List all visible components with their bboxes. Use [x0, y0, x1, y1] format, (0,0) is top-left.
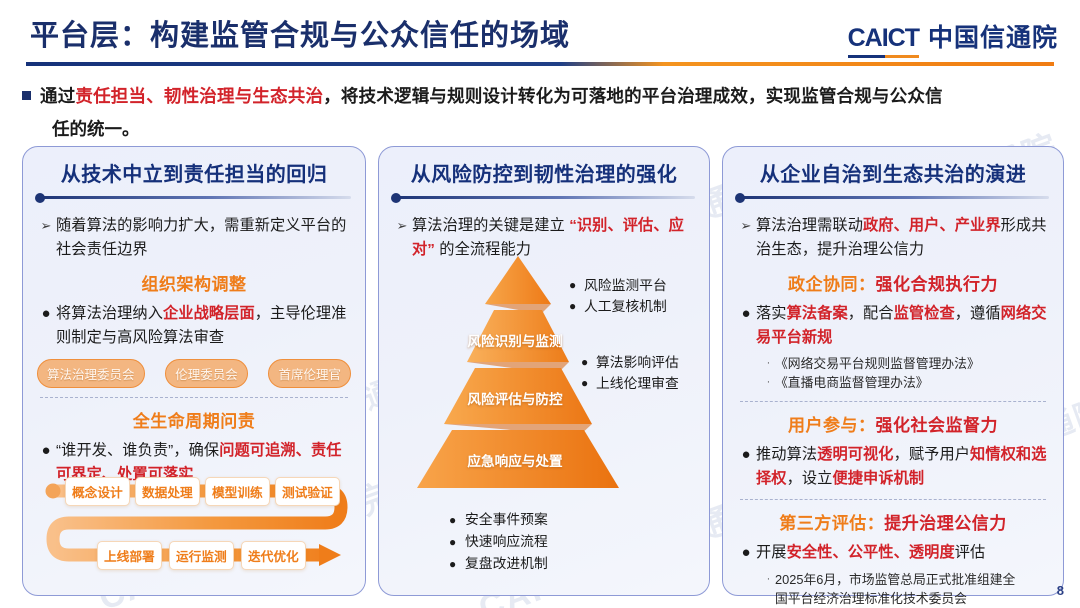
caict-logo: CAICT 中国信通院	[848, 18, 1058, 54]
logo-caict-text: CAICT	[848, 24, 919, 52]
card3-bullet-2-text: 落实算法备案，配合监管检查，遵循网络交易平台新规	[756, 302, 1050, 349]
chip-item[interactable]: 算法治理委员会	[37, 359, 145, 388]
dot-bullet-icon: ●	[569, 296, 584, 317]
card3-sublist-1: ·《网络交易平台规则监督管理办法》 ·《直播电商监督管理办法》	[762, 354, 1050, 392]
card-responsibility: 从技术中立到责任担当的回归 ➢ 随着算法的影响力扩大，需重新定义平台的社会责任边…	[22, 146, 366, 596]
card3-sh3-red: 提升治理公信力	[884, 514, 1007, 533]
bottom-note-text: 快速响应流程	[465, 531, 548, 553]
card1-bullet-2: ● 将算法治理纳入企业战略层面，主导伦理准则制定与高风险算法审查	[36, 302, 352, 349]
side-note-text: 上线伦理审查	[596, 373, 679, 394]
card1-lifecycle-flow: 概念设计 数据处理 模型训练 测试验证 上线部署 运行监测 迭代优化	[35, 469, 353, 581]
logo-underline-bar	[848, 55, 919, 58]
card3-b2-b: ，配合	[848, 305, 894, 322]
dot-bullet-icon: ●	[736, 541, 756, 565]
card-ecosystem: 从企业自治到生态共治的演进 ➢ 算法治理需联动政府、用户、产业界形成共治生态，提…	[722, 146, 1064, 596]
card2-b1-red: “识别、评估、	[569, 217, 668, 234]
logo-mark: CAICT	[848, 24, 919, 53]
card1-title-divider	[37, 196, 351, 199]
slide-header: 平台层：构建监管合规与公众信任的场域 CAICT 中国信通院	[0, 0, 1080, 70]
card1-chips: 算法治理委员会 伦理委员会 首席伦理官	[36, 359, 352, 388]
lead-text-line2: 任的统一。	[52, 113, 1062, 146]
card1-subhead-org: 组织架构调整	[36, 270, 352, 295]
side-note-item: ●人工复核机制	[569, 296, 667, 317]
card3-b4-a: 开展	[756, 544, 787, 561]
bottom-note-item: ●快速响应流程	[449, 531, 548, 553]
flow-box: 概念设计	[65, 477, 130, 506]
sub-item: 国平台经济治理标准化技术委员会	[762, 589, 1050, 608]
card1-body: ➢ 随着算法的影响力扩大，需重新定义平台的社会责任边界 组织架构调整 ● 将算法…	[23, 199, 365, 486]
slide: CAICT 中国信通院 CAICT 中国信通院 CAICT 中国信通院 CAIC…	[0, 0, 1080, 608]
card3-sh3-org: 第三方评估：	[779, 514, 884, 533]
header-divider	[26, 62, 1054, 66]
card3-title-divider	[737, 196, 1049, 199]
card3-b1-b: 形	[1001, 217, 1016, 234]
card1-b3-red1: 问题可追溯、	[219, 442, 311, 459]
side-note-text: 算法影响评估	[596, 352, 679, 373]
pyramid-label-2: 风险识别与监测	[384, 330, 646, 350]
card3-b1-a: 算法治理需联动	[756, 217, 863, 234]
card1-b1-a: 随着算法的影响力扩大，需重新定义平	[56, 217, 316, 234]
dot-bullet-icon: ●	[36, 302, 56, 349]
card1-subhead-lifecycle: 全生命周期问责	[36, 407, 352, 432]
chip-item[interactable]: 首席伦理官	[268, 359, 351, 388]
card3-bullet-1: ➢ 算法治理需联动政府、用户、产业界形成共治生态，提升治理公信力	[736, 214, 1050, 261]
pyramid-side-note-mid: ●算法影响评估 ●上线伦理审查	[581, 352, 679, 394]
card3-subhead-1: 政企协同：强化合规执行力	[736, 270, 1050, 295]
lead-paragraph: 通过责任担当、韧性治理与生态共治，将技术逻辑与规则设计转化为可落地的平台治理成效…	[22, 80, 1062, 146]
sub-item: ·2025年6月，市场监管总局正式批准组建全	[762, 570, 1050, 589]
side-note-text: 人工复核机制	[584, 296, 667, 317]
card3-b2-red2: 监管检查	[894, 305, 955, 322]
dot-bullet-icon: ●	[736, 443, 756, 490]
dot-bullet-icon: ●	[581, 352, 596, 373]
card3-body: ➢ 算法治理需联动政府、用户、产业界形成共治生态，提升治理公信力 政企协同：强化…	[723, 199, 1063, 608]
card1-b2-highlight: 企业战略层面	[163, 305, 255, 322]
flow-box: 上线部署	[97, 541, 162, 570]
card1-b2-a: 将算法治理纳入	[56, 305, 163, 322]
lead-text-a: 通过	[40, 86, 75, 106]
lead-text-b: ，将技术逻辑与规则设计转化为可落地的平台治理成效，实现监管合规与公众信	[323, 86, 943, 106]
card3-subhead-2: 用户参与：强化社会监督力	[736, 411, 1050, 436]
flow-box: 运行监测	[169, 541, 234, 570]
card3-sh1-red: 强化合规执行力	[876, 275, 999, 294]
card2-title: 从风险防控到韧性治理的强化	[379, 158, 709, 187]
card2-title-divider	[393, 196, 695, 199]
card3-sublist-2: ·2025年6月，市场监管总局正式批准组建全 国平台经济治理标准化技术委员会	[762, 570, 1050, 608]
small-dot-icon: ·	[762, 373, 775, 392]
flow-start-dot	[46, 484, 61, 499]
card1-b2-b: ，主导伦	[255, 305, 316, 322]
square-bullet-icon	[22, 91, 31, 100]
flow-box: 迭代优化	[241, 541, 306, 570]
flow-box: 测试验证	[275, 477, 340, 506]
dot-bullet-icon: ●	[736, 302, 756, 349]
dot-bullet-icon: ●	[449, 553, 465, 575]
card3-dashed-divider-1	[740, 401, 1046, 402]
small-dot-icon: ·	[762, 570, 775, 589]
card3-bullet-3: ● 推动算法透明可视化，赋予用户知情权和选择权，设立便捷申诉机制	[736, 443, 1050, 490]
card3-sh1-org: 政企协同：	[788, 275, 876, 294]
side-note-item: ●算法影响评估	[581, 352, 679, 373]
card3-sh2-org: 用户参与：	[788, 416, 876, 435]
page-number: 8	[1057, 583, 1064, 598]
chip-item[interactable]: 伦理委员会	[165, 359, 248, 388]
card1-b3-a: “谁开发、谁负责”，确保	[56, 442, 219, 459]
card1-bullet-1-text: 随着算法的影响力扩大，需重新定义平台的社会责任边界	[56, 214, 352, 261]
arrow-bullet-icon: ➢	[36, 214, 56, 261]
card3-b2-a: 落实	[756, 305, 787, 322]
card3-dashed-divider-2	[740, 499, 1046, 500]
card3-sh2-red: 强化社会监督力	[876, 416, 999, 435]
side-note-text: 风险监测平台	[584, 275, 667, 296]
card3-bullet-4-text: 开展安全性、公平性、透明度评估	[756, 541, 1050, 565]
side-note-item: ●风险监测平台	[569, 275, 667, 296]
card3-b1-red: 政府、用户、产业界	[863, 217, 1001, 234]
sub-item: ·《网络交易平台规则监督管理办法》	[762, 354, 1050, 373]
card3-b3-red1: 透明可视化	[817, 446, 893, 463]
side-note-item: ●上线伦理审查	[581, 373, 679, 394]
card3-title: 从企业自治到生态共治的演进	[723, 158, 1063, 187]
bottom-note-item: ●复盘改进机制	[449, 553, 548, 575]
card3-bullet-1-text: 算法治理需联动政府、用户、产业界形成共治生态，提升治理公信力	[756, 214, 1050, 261]
dot-bullet-icon: ●	[569, 275, 584, 296]
bottom-note-text: 复盘改进机制	[465, 553, 548, 575]
card3-b3-a: 推动算法	[756, 446, 817, 463]
card2-b1-a: 算法治理的关键是建立	[412, 217, 569, 234]
page-title: 平台层：构建监管合规与公众信任的场域	[30, 12, 570, 54]
bottom-note-item: ●安全事件预案	[449, 509, 548, 531]
small-dot-icon: ·	[762, 354, 775, 373]
sub-item-text: 《网络交易平台规则监督管理办法》	[775, 354, 980, 373]
card3-b2-red1: 算法备案	[787, 305, 848, 322]
pyramid-level-1	[485, 256, 551, 304]
pyramid-bottom-notes: ●安全事件预案 ●快速响应流程 ●复盘改进机制	[449, 509, 548, 575]
card3-b4-b: 评估	[955, 544, 986, 561]
pyramid-side-note-top: ●风险监测平台 ●人工复核机制	[569, 275, 667, 317]
sub-item-text: 国平台经济治理标准化技术委员会	[775, 589, 967, 608]
dot-bullet-icon: ●	[581, 373, 596, 394]
flow-arrow-icon	[319, 544, 341, 566]
card1-bullet-1: ➢ 随着算法的影响力扩大，需重新定义平台的社会责任边界	[36, 214, 352, 261]
card3-b3-b: ，赋予用户	[894, 446, 970, 463]
card1-dashed-divider	[40, 397, 348, 398]
card3-b2-c: ，遵循	[955, 305, 1001, 322]
card3-b2-red3: 网	[1001, 305, 1016, 322]
logo-chinese-name: 中国信通院	[928, 18, 1058, 54]
dot-bullet-icon: ●	[449, 531, 465, 553]
card3-bullet-4: ● 开展安全性、公平性、透明度评估	[736, 541, 1050, 565]
card3-bullet-3-text: 推动算法透明可视化，赋予用户知情权和选择权，设立便捷申诉机制	[756, 443, 1050, 490]
dot-bullet-icon: ●	[449, 509, 465, 531]
card3-bullet-2: ● 落实算法备案，配合监管检查，遵循网络交易平台新规	[736, 302, 1050, 349]
small-dot-icon	[762, 589, 775, 608]
bottom-note-text: 安全事件预案	[465, 509, 548, 531]
sub-item-text: 《直播电商监督管理办法》	[775, 373, 929, 392]
flow-box: 模型训练	[205, 477, 270, 506]
card3-b3-red2: 知情权	[970, 446, 1016, 463]
card-resilience: 从风险防控到韧性治理的强化 ➢ 算法治理的关键是建立 “识别、评估、应对” 的全…	[378, 146, 710, 596]
flow-box: 数据处理	[135, 477, 200, 506]
card3-b3-c: ，设立	[787, 470, 833, 487]
sub-item-text: 2025年6月，市场监管总局正式批准组建全	[775, 570, 1015, 589]
card1-title: 从技术中立到责任担当的回归	[23, 158, 365, 187]
card3-subhead-3: 第三方评估：提升治理公信力	[736, 509, 1050, 534]
card3-b4-red: 安全性、公平性、透明度	[787, 544, 955, 561]
pyramid-label-4: 应急响应与处置	[384, 450, 646, 470]
arrow-bullet-icon: ➢	[736, 214, 756, 261]
lead-text-highlight: 责任担当、韧性治理与生态共治	[75, 86, 323, 106]
card3-b3-red4: 便捷申诉机制	[832, 470, 924, 487]
card1-bullet-2-text: 将算法治理纳入企业战略层面，主导伦理准则制定与高风险算法审查	[56, 302, 352, 349]
sub-item: ·《直播电商监督管理办法》	[762, 373, 1050, 392]
